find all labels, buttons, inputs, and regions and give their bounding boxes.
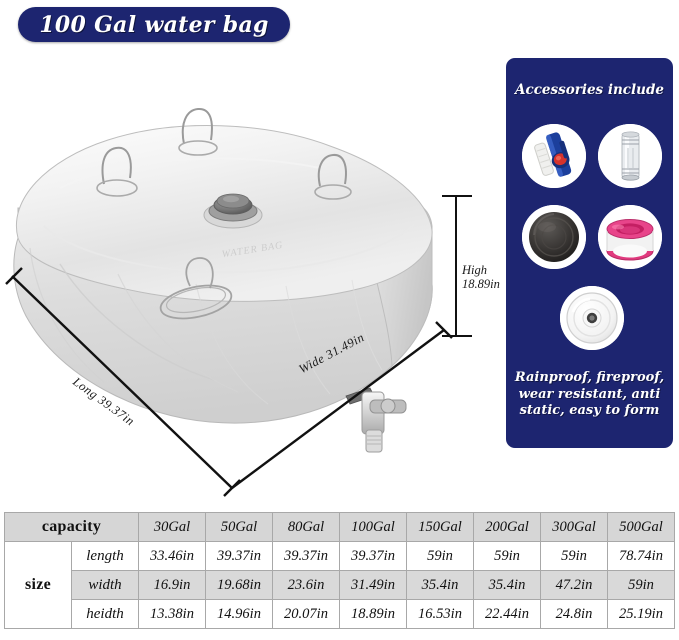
cell-length-1: 39.37in xyxy=(206,542,273,571)
product-title-badge: 100 Gal water bag xyxy=(18,7,290,42)
cell-length-7: 78.74in xyxy=(608,542,675,571)
cell-width-5: 35.4in xyxy=(474,571,541,600)
page-title: 100 Gal water bag xyxy=(39,12,268,38)
dimension-label-high-line1: High xyxy=(462,263,487,277)
cell-heidth-6: 24.8in xyxy=(541,600,608,629)
row-label-length: length xyxy=(72,542,139,571)
row-group-size: size xyxy=(5,542,72,629)
cell-heidth-2: 20.07in xyxy=(273,600,340,629)
cell-heidth-3: 18.89in xyxy=(340,600,407,629)
cell-width-4: 35.4in xyxy=(407,571,474,600)
cell-length-2: 39.37in xyxy=(273,542,340,571)
cell-width-1: 19.68in xyxy=(206,571,273,600)
cell-width-6: 47.2in xyxy=(541,571,608,600)
cell-length-6: 59in xyxy=(541,542,608,571)
spec-table-body: capacity 30Gal 50Gal 80Gal 100Gal 150Gal… xyxy=(5,513,675,629)
cell-width-3: 31.49in xyxy=(340,571,407,600)
accessory-black-cap-icon xyxy=(522,205,586,269)
header-capacity-0: 30Gal xyxy=(139,513,206,542)
header-capacity-7: 500Gal xyxy=(608,513,675,542)
cell-heidth-5: 22.44in xyxy=(474,600,541,629)
accessory-ball-valve-icon xyxy=(522,124,586,188)
cell-length-3: 39.37in xyxy=(340,542,407,571)
table-row-length: size length 33.46in 39.37in 39.37in 39.3… xyxy=(5,542,675,571)
table-row-heidth: heidth 13.38in 14.96in 20.07in 18.89in 1… xyxy=(5,600,675,629)
accessories-title: Accessories include xyxy=(506,82,673,98)
cell-length-5: 59in xyxy=(474,542,541,571)
cell-heidth-7: 25.19in xyxy=(608,600,675,629)
cell-heidth-4: 16.53in xyxy=(407,600,474,629)
dimension-label-high-line2: 18.89in xyxy=(462,277,500,291)
cell-heidth-1: 14.96in xyxy=(206,600,273,629)
header-capacity-5: 200Gal xyxy=(474,513,541,542)
accessories-tagline: Rainproof, fireproof, wear resistant, an… xyxy=(511,370,668,420)
accessory-ptfe-tape-icon xyxy=(598,205,662,269)
table-header-row: capacity 30Gal 50Gal 80Gal 100Gal 150Gal… xyxy=(5,513,675,542)
specification-table: capacity 30Gal 50Gal 80Gal 100Gal 150Gal… xyxy=(4,512,675,629)
dimension-label-high: High 18.89in xyxy=(462,263,500,292)
header-capacity-2: 80Gal xyxy=(273,513,340,542)
cell-length-0: 33.46in xyxy=(139,542,206,571)
row-label-width: width xyxy=(72,571,139,600)
accessory-filter-tube-icon xyxy=(598,124,662,188)
cell-heidth-0: 13.38in xyxy=(139,600,206,629)
header-capacity-3: 100Gal xyxy=(340,513,407,542)
cell-width-7: 59in xyxy=(608,571,675,600)
table-row-width: width 16.9in 19.68in 23.6in 31.49in 35.4… xyxy=(5,571,675,600)
header-capacity-4: 150Gal xyxy=(407,513,474,542)
row-label-heidth: heidth xyxy=(72,600,139,629)
header-capacity: capacity xyxy=(5,513,139,542)
water-bag-illustration: WATER BAG xyxy=(0,48,500,503)
header-capacity-1: 50Gal xyxy=(206,513,273,542)
cell-width-2: 23.6in xyxy=(273,571,340,600)
accessories-panel: Accessories include xyxy=(506,58,673,448)
cell-length-4: 59in xyxy=(407,542,474,571)
product-hero-image: WATER BAG xyxy=(0,48,500,503)
cell-width-0: 16.9in xyxy=(139,571,206,600)
accessory-white-gasket-icon xyxy=(560,286,624,350)
header-capacity-6: 300Gal xyxy=(541,513,608,542)
